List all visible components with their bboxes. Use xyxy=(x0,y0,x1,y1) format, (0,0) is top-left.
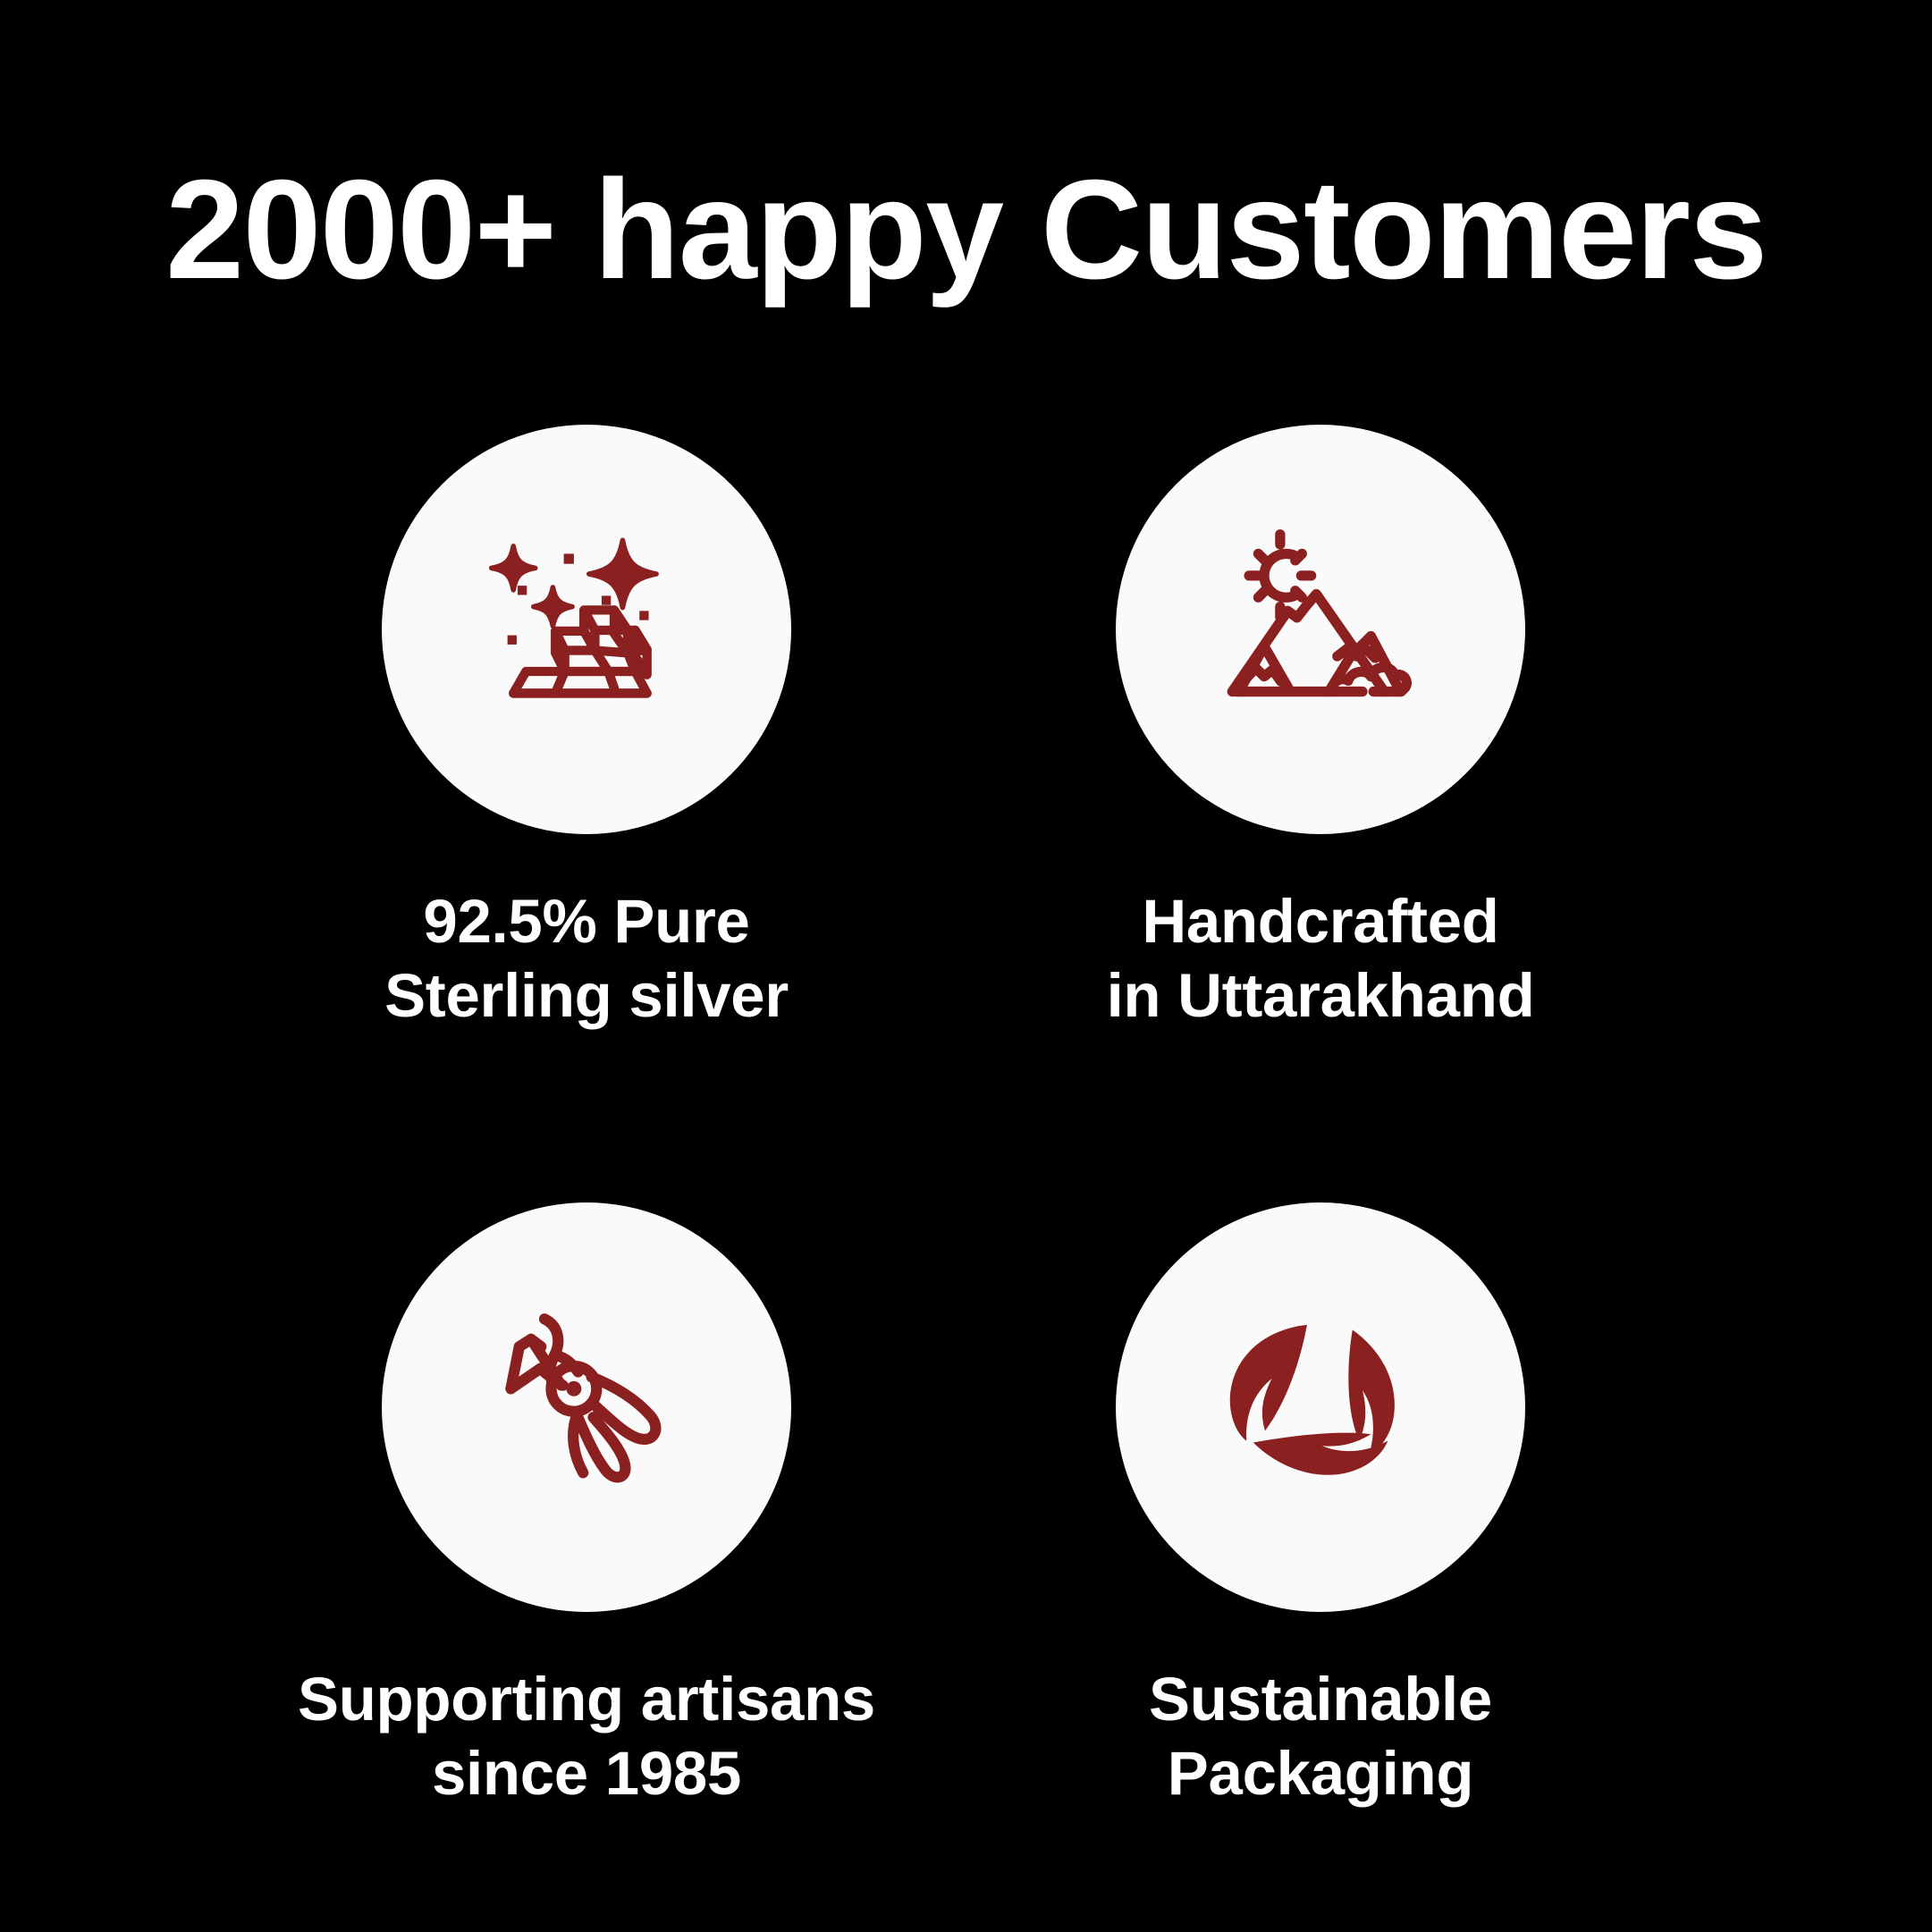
icon-badge-packaging xyxy=(1116,1202,1525,1612)
icon-badge-handcrafted xyxy=(1116,425,1525,834)
promo-banner: 2000+ happy Customers xyxy=(0,0,1932,1932)
feature-label-line1: Sustainable xyxy=(1149,1662,1492,1736)
feature-label-handcrafted: Handcrafted in Uttarakhand xyxy=(1107,884,1535,1033)
feature-label-line1: Handcrafted xyxy=(1107,884,1535,958)
mountains-sun-icon xyxy=(1194,503,1447,755)
feature-item-artisans: Supporting artisans since 1985 xyxy=(247,1202,926,1811)
feature-item-packaging: Sustainable Packaging xyxy=(981,1202,1660,1811)
feature-grid: 92.5% Pure Sterling silver xyxy=(0,425,1932,1855)
three-leaves-recycle-icon xyxy=(1194,1281,1447,1533)
silver-bars-sparkle-icon xyxy=(460,503,713,755)
feature-label-line1: 92.5% Pure xyxy=(384,884,789,958)
feature-item-handcrafted: Handcrafted in Uttarakhand xyxy=(981,425,1660,1033)
jewelry-pliers-icon xyxy=(460,1281,713,1533)
icon-badge-artisans xyxy=(382,1202,791,1612)
icon-badge-sterling-silver xyxy=(382,425,791,834)
feature-label-artisans: Supporting artisans since 1985 xyxy=(298,1662,875,1811)
feature-label-line2: Sterling silver xyxy=(384,958,789,1033)
page-title: 2000+ happy Customers xyxy=(0,159,1932,300)
feature-item-sterling-silver: 92.5% Pure Sterling silver xyxy=(247,425,926,1033)
feature-label-line2: since 1985 xyxy=(298,1736,875,1810)
feature-label-sterling-silver: 92.5% Pure Sterling silver xyxy=(384,884,789,1033)
feature-label-line1: Supporting artisans xyxy=(298,1662,875,1736)
feature-label-line2: in Uttarakhand xyxy=(1107,958,1535,1033)
feature-label-packaging: Sustainable Packaging xyxy=(1149,1662,1492,1811)
feature-label-line2: Packaging xyxy=(1149,1736,1492,1810)
